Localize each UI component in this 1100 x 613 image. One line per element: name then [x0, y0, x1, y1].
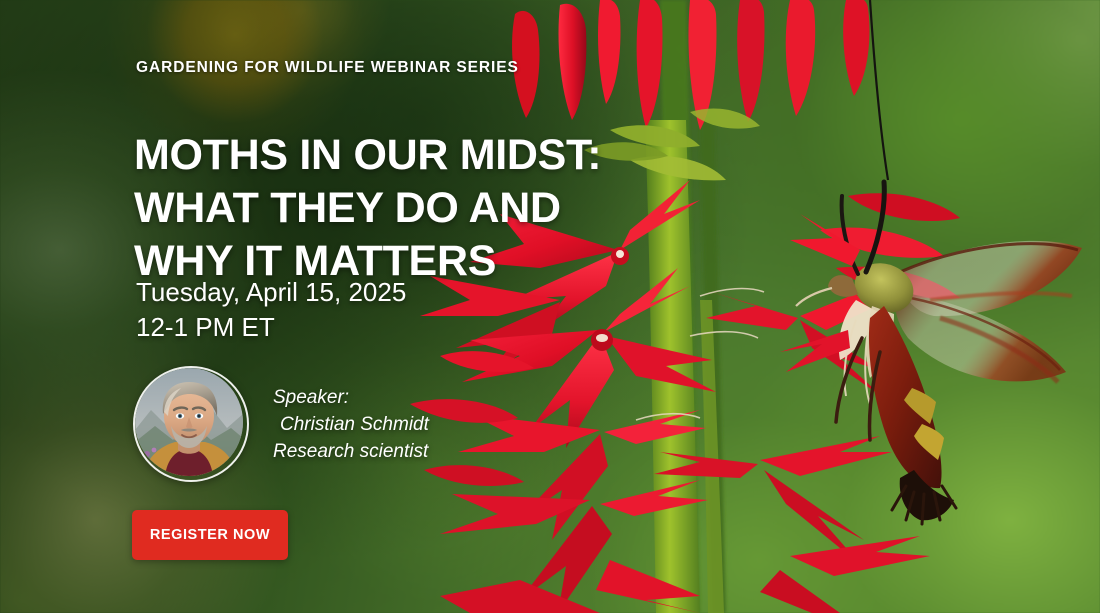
speaker-label: Speaker: [273, 384, 429, 411]
speaker-role: Research scientist [273, 438, 429, 465]
speaker-details: Speaker: Christian Schmidt Research scie… [273, 384, 429, 465]
banner-content: GARDENING FOR WILDLIFE WEBINAR SERIES MO… [136, 0, 656, 613]
series-eyebrow: GARDENING FOR WILDLIFE WEBINAR SERIES [136, 59, 519, 77]
register-now-button[interactable]: REGISTER NOW [132, 510, 288, 560]
speaker-block: Speaker: Christian Schmidt Research scie… [133, 366, 429, 482]
event-time: 12-1 PM ET [136, 310, 406, 345]
headline-line-2: WHAT THEY DO AND [134, 182, 601, 235]
headline-line-1: MOTHS IN OUR MIDST: [134, 129, 601, 182]
avatar [133, 366, 249, 482]
webinar-promo-banner: GARDENING FOR WILDLIFE WEBINAR SERIES MO… [0, 0, 1100, 613]
page-title: MOTHS IN OUR MIDST: WHAT THEY DO AND WHY… [134, 129, 601, 288]
event-date: Tuesday, April 15, 2025 [136, 275, 406, 310]
event-datetime: Tuesday, April 15, 2025 12-1 PM ET [136, 275, 406, 345]
speaker-name: Christian Schmidt [273, 411, 429, 438]
